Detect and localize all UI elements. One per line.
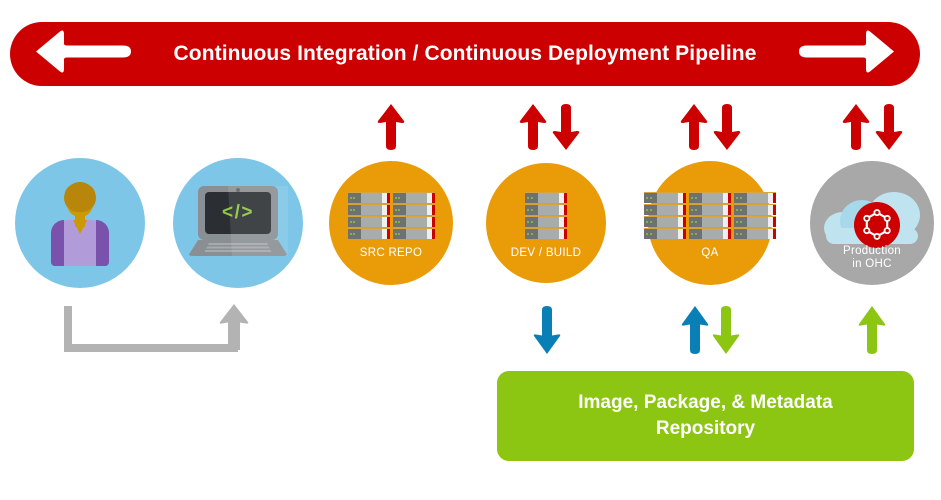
code-glyph: </> <box>222 202 254 224</box>
arrow-up-dev-build <box>519 104 547 155</box>
repository-box[interactable]: Image, Package, & Metadata Repository <box>497 371 914 461</box>
node-label-dev-build: DEV / BUILD <box>486 247 606 260</box>
server-rack-icon <box>525 192 567 239</box>
node-label-production: Production in OHC <box>810 245 934 271</box>
arrow-down-production <box>875 104 903 155</box>
node-developer[interactable] <box>15 158 145 288</box>
cicd-pipeline-diagram: Continuous Integration / Continuous Depl… <box>0 0 941 500</box>
node-src-repo[interactable]: SRC REPO <box>329 161 453 285</box>
cloud-openshift-icon <box>824 188 920 250</box>
node-label-src-repo: SRC REPO <box>329 247 453 260</box>
arrow-right-icon <box>799 30 894 79</box>
person-developer-icon <box>37 180 123 266</box>
arrow-down-dev-build-to-repo <box>533 306 561 359</box>
arrow-up-repo-to-production <box>858 306 886 359</box>
arrow-down-qa <box>713 104 741 155</box>
arrow-up-production <box>842 104 870 155</box>
page-title: Continuous Integration / Continuous Depl… <box>174 42 757 66</box>
arrow-down-qa-to-repo <box>712 306 740 359</box>
arrow-up-qa <box>680 104 708 155</box>
server-rack-icon <box>348 192 435 239</box>
laptop-code-icon: </> <box>188 186 288 260</box>
node-workstation[interactable]: </> <box>173 158 303 288</box>
openshift-logo-icon <box>854 202 900 248</box>
developer-to-workstation-connector <box>60 300 250 363</box>
arrow-up-repo-to-qa <box>681 306 709 359</box>
arrow-up-src-repo <box>377 104 405 155</box>
node-qa[interactable]: QA <box>648 161 772 285</box>
arrow-down-dev-build <box>552 104 580 155</box>
node-label-qa: QA <box>648 247 772 260</box>
server-rack-icon <box>644 192 776 239</box>
node-production[interactable]: Production in OHC <box>810 161 934 285</box>
node-dev-build[interactable]: DEV / BUILD <box>486 163 606 283</box>
pipeline-banner: Continuous Integration / Continuous Depl… <box>10 22 920 86</box>
repository-label: Image, Package, & Metadata Repository <box>578 390 833 442</box>
arrow-left-icon <box>36 30 131 79</box>
